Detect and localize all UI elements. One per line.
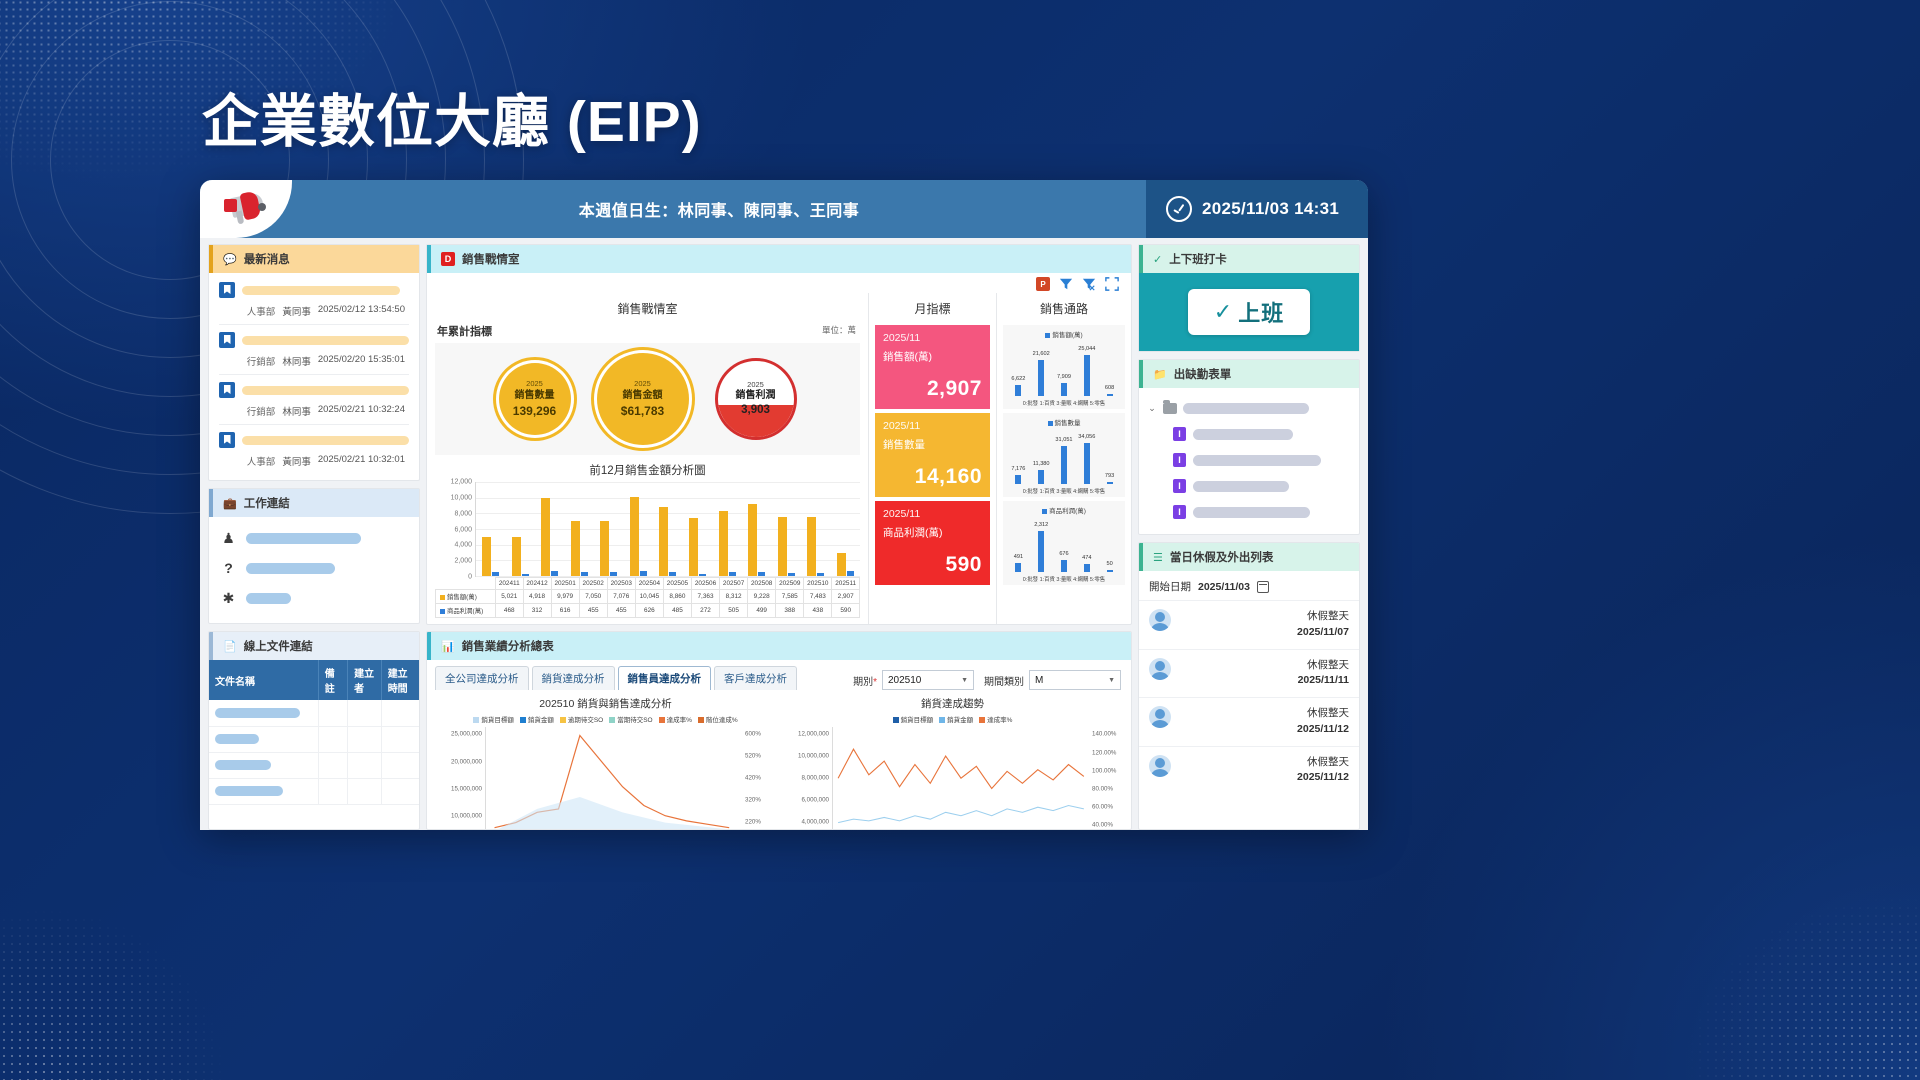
doc-note-cell <box>318 752 347 778</box>
unit-label: 單位：萬 <box>492 324 868 336</box>
filter-label: 期間類別 <box>984 673 1024 688</box>
doc-column-header[interactable]: 建立時間 <box>381 660 419 700</box>
ytd-section: 銷售戰情室 年累計指標 單位：萬 2025銷售數量139,2962025銷售金額… <box>427 293 869 624</box>
legend-item: 銷貨目標額 <box>893 714 934 724</box>
table-row[interactable] <box>209 752 419 778</box>
y-tick: 20,000,000 <box>451 758 482 765</box>
worklinks-header: 💼 工作連結 <box>209 489 419 517</box>
fullscreen-icon[interactable] <box>1105 277 1119 291</box>
leave-type: 休假整天 <box>1307 610 1349 622</box>
y2-tick: 60.00% <box>1092 804 1113 811</box>
news-item[interactable]: 行銷部林同事2025/02/20 15:35:01 <box>219 325 409 375</box>
worklink-item[interactable]: ✱ <box>221 583 407 613</box>
documents-table-body <box>209 700 419 804</box>
chevron-down-icon[interactable]: ⌄ <box>1147 403 1157 414</box>
list-item[interactable]: 休假整天2025/11/12 <box>1139 697 1359 746</box>
bar-category: 202503 <box>607 578 635 590</box>
kpi-label: 商品利潤(萬) <box>883 525 982 540</box>
series-value: 7,050 <box>579 590 607 604</box>
bar-chart-plot-area: 12,00010,0008,0006,0004,0002,0000 <box>435 482 860 577</box>
avatar <box>1149 658 1171 680</box>
y-tick: 15,000,000 <box>451 786 482 793</box>
y2-tick: 40.00% <box>1092 822 1113 829</box>
series-value: 4,918 <box>523 590 551 604</box>
series-value: 590 <box>832 604 860 618</box>
analysis-header: 📊 銷售業績分析總表 <box>427 632 1131 660</box>
filter-group: 期別*202510▼ <box>853 670 974 690</box>
doc-column-header[interactable]: 文件名稱 <box>209 660 318 700</box>
leave-header: ☰ 當日休假及外出列表 <box>1139 543 1359 571</box>
attendance-title: 出缺勤表單 <box>1174 366 1232 382</box>
check-icon: ✓ <box>1153 253 1162 266</box>
leave-date-label: 開始日期 <box>1149 579 1191 594</box>
attendance-form-item[interactable]: I <box>1147 447 1351 473</box>
donut-value: 139,296 <box>513 403 556 419</box>
folder-label-redacted <box>1183 403 1309 414</box>
channel-bar: 11,380 <box>1038 470 1044 484</box>
news-time: 2025/02/21 10:32:01 <box>318 454 405 468</box>
analysis-filters: 期別*202510▼期間類別M▼ <box>843 666 1131 690</box>
series-value: 7,585 <box>776 590 804 604</box>
worklink-label-redacted <box>246 533 361 544</box>
chart2-canvas <box>485 727 742 830</box>
bar-category: 202510 <box>804 578 832 590</box>
left-sidebar: 💬 最新消息 人事部黃同事2025/02/12 13:54:50行銷部林同事20… <box>208 244 420 830</box>
attendance-form-item[interactable]: I <box>1147 421 1351 447</box>
legend-item: 階位達成% <box>698 714 738 724</box>
user-icon: ♟ <box>221 530 236 547</box>
news-title-redacted <box>242 286 400 295</box>
news-panel-header: 💬 最新消息 <box>209 245 419 273</box>
doc-time-cell <box>381 700 419 726</box>
series-value: 9,228 <box>748 590 776 604</box>
leave-date-value[interactable]: 2025/11/03 <box>1198 581 1250 593</box>
bar-category: 202411 <box>496 578 524 590</box>
bar-category: 202504 <box>635 578 663 590</box>
legend-item: 銷貨金額 <box>939 714 973 724</box>
y-tick: 8,000,000 <box>801 775 829 782</box>
clock-icon <box>1166 196 1192 222</box>
filter-label: 期別* <box>853 673 877 688</box>
channel-legend: 銷售額(萬) <box>1006 329 1122 339</box>
worklink-label-redacted <box>246 563 335 574</box>
monthly-bar-chart: 前12月銷售金額分析圖 12,00010,0008,0006,0004,0002… <box>427 455 868 624</box>
channel-charts: 銷售額(萬)6,62221,6027,90925,0446080:批發 1:百貨… <box>997 325 1131 585</box>
doc-creator-cell <box>348 778 382 804</box>
page-title: 企業數位大廳 (EIP) <box>202 76 702 158</box>
bar-chart-title: 前12月銷售金額分析圖 <box>435 459 860 482</box>
donut-value: $61,783 <box>621 403 664 419</box>
bookmark-icon <box>219 332 235 348</box>
series-value: 312 <box>523 604 551 618</box>
punch-area: ✓ 上班 <box>1139 273 1359 351</box>
table-row[interactable] <box>209 726 419 752</box>
kpi-value: 2,907 <box>883 377 982 401</box>
punch-panel: ✓ 上下班打卡 ✓ 上班 <box>1138 244 1360 352</box>
news-time: 2025/02/21 10:32:24 <box>318 404 405 418</box>
sales-dashboard-title: 銷售戰情室 <box>462 251 520 267</box>
bookmark-icon <box>219 382 235 398</box>
series-value: 8,312 <box>720 590 748 604</box>
bar-chart-icon: 📊 <box>441 640 455 653</box>
news-author: 林同事 <box>282 354 311 368</box>
tab-item[interactable]: 客戶達成分析 <box>714 666 797 690</box>
kpi-donut[interactable]: 2025銷售金額$61,783 <box>597 353 689 445</box>
channel-bar: 6,622 <box>1015 385 1021 396</box>
attendance-form-item[interactable]: I <box>1147 473 1351 499</box>
ytd-donut-row: 2025銷售數量139,2962025銷售金額$61,7832025銷售利潤3,… <box>435 343 860 455</box>
doc-name-cell <box>209 778 318 804</box>
app-body: 💬 最新消息 人事部黃同事2025/02/12 13:54:50行銷部林同事20… <box>200 238 1368 830</box>
leave-date: 2025/11/11 <box>1298 674 1349 686</box>
legend-item: 銷貨金額 <box>520 714 554 724</box>
chart3-legend: 銷貨目標額銷貨金額達成率% <box>782 714 1123 727</box>
right-sidebar: ✓ 上下班打卡 ✓ 上班 📁 出缺勤表單 ⌄IIII <box>1138 244 1360 830</box>
channel-bar: 7,909 <box>1061 383 1067 396</box>
channel-axis-label: 0:批發 1:百貨 3:量販 4:網購 5:零售 <box>1006 487 1122 495</box>
duty-notice: 本週值日生：林同事、陳同事、王同事 <box>292 180 1146 238</box>
doc-column-header[interactable]: 備註 <box>318 660 347 700</box>
analysis-tabs: 全公司達成分析銷貨達成分析銷售員達成分析客戶達成分析 <box>427 660 805 690</box>
news-author: 黃同事 <box>282 454 311 468</box>
list-icon: ☰ <box>1153 551 1163 564</box>
form-label-redacted <box>1193 481 1289 492</box>
channel-bar: 491 <box>1015 563 1021 572</box>
bar-category: 202511 <box>832 578 860 590</box>
chart3-title: 銷貨達成趨勢 <box>782 694 1123 714</box>
news-dept: 行銷部 <box>247 404 276 418</box>
info-icon: I <box>1173 427 1186 441</box>
leave-date: 2025/11/12 <box>1297 771 1349 783</box>
doc-time-cell <box>381 778 419 804</box>
y-tick: 10,000,000 <box>451 813 482 820</box>
doc-time-cell <box>381 752 419 778</box>
dashboard-toolbar: P <box>427 273 1131 293</box>
donut-year: 2025 <box>634 379 651 389</box>
dashboard-badge: D <box>441 252 455 266</box>
current-datetime: 2025/11/03 14:31 <box>1202 199 1339 219</box>
achievement-analysis-chart: 202510 銷貨與銷售達成分析 銷貨目標額銷貨金額逾期待交SO當期待交SO達成… <box>435 694 776 830</box>
channel-chart: 商品利潤(萬)4912,312676474500:批發 1:百貨 3:量販 4:… <box>1003 501 1125 585</box>
channel-legend: 商品利潤(萬) <box>1006 505 1122 515</box>
punch-in-button[interactable]: ✓ 上班 <box>1188 289 1310 335</box>
folder-icon <box>1163 403 1177 414</box>
attendance-folder-node[interactable]: ⌄ <box>1147 395 1351 421</box>
chart3-secondary-y-axis: 140.00%120.00%100.00%80.00%60.00%40.00%2… <box>1089 727 1123 830</box>
y2-tick: 100.00% <box>1092 767 1116 774</box>
dashboard-grid: 銷售戰情室 年累計指標 單位：萬 2025銷售數量139,2962025銷售金額… <box>427 293 1131 624</box>
filter-value: 202510 <box>888 675 921 686</box>
chart2-y-axis: 25,000,00020,000,00015,000,00010,000,000… <box>435 727 485 830</box>
news-item[interactable]: 人事部黃同事2025/02/12 13:54:50 <box>219 275 409 325</box>
channel-bar: 2,312 <box>1038 531 1044 572</box>
attendance-form-item[interactable]: I <box>1147 499 1351 525</box>
info-icon: I <box>1173 453 1186 467</box>
kpi-card[interactable]: 2025/11銷售額(萬)2,907 <box>875 325 990 409</box>
doc-creator-cell <box>348 700 382 726</box>
bar-group <box>683 482 713 576</box>
leave-detail: 休假整天2025/11/11 <box>1298 658 1349 690</box>
table-row[interactable] <box>209 700 419 726</box>
filter-group: 期間類別M▼ <box>984 670 1121 690</box>
bar-chart-bars <box>476 482 860 576</box>
news-panel-title: 最新消息 <box>244 251 290 267</box>
legend-item: 達成率% <box>659 714 692 724</box>
doc-creator-cell <box>348 726 382 752</box>
series-value: 8,860 <box>663 590 691 604</box>
punch-header: ✓ 上下班打卡 <box>1139 245 1359 273</box>
tab-active[interactable]: 銷售員達成分析 <box>618 666 712 690</box>
form-label-redacted <box>1193 455 1321 466</box>
bar-group <box>742 482 772 576</box>
series-legend: 商品利潤(萬) <box>436 604 496 618</box>
channel-bar: 793 <box>1107 482 1113 484</box>
news-title-redacted <box>242 386 409 395</box>
attendance-header: 📁 出缺勤表單 <box>1139 360 1359 388</box>
doc-note-cell <box>318 778 347 804</box>
bar-category: 202505 <box>663 578 691 590</box>
y2-tick: 520% <box>745 753 761 760</box>
channel-bar: 474 <box>1084 564 1090 572</box>
series-value: 499 <box>748 604 776 618</box>
bar-chart-y-axis: 12,00010,0008,0006,0004,0002,0000 <box>435 482 475 577</box>
y2-tick: 220% <box>745 818 761 825</box>
tab-item[interactable]: 全公司達成分析 <box>435 666 529 690</box>
analysis-panel: 📊 銷售業績分析總表 全公司達成分析銷貨達成分析銷售員達成分析客戶達成分析 期別… <box>426 631 1132 830</box>
y2-tick: 420% <box>745 775 761 782</box>
channel-bar: 676 <box>1061 560 1067 572</box>
series-value: 485 <box>663 604 691 618</box>
worklink-item[interactable]: ♟ <box>221 523 407 553</box>
channel-bar: 608 <box>1107 394 1113 396</box>
kpi-donut[interactable]: 2025銷售數量139,296 <box>499 363 571 435</box>
chart3-canvas <box>832 727 1089 830</box>
series-value: 7,076 <box>607 590 635 604</box>
megaphone-icon <box>222 192 270 226</box>
doc-column-header[interactable]: 建立者 <box>348 660 382 700</box>
doc-creator-cell <box>348 752 382 778</box>
series-value: 10,045 <box>635 590 663 604</box>
sales-dashboard-panel: D 銷售戰情室 P 銷售戰情室 年累計指標 單位：萬 <box>426 244 1132 625</box>
news-time: 2025/02/20 15:35:01 <box>318 354 405 368</box>
monthly-kpi-cards: 2025/11銷售額(萬)2,9072025/11銷售數量14,1602025/… <box>869 325 996 585</box>
channel-chart: 銷售數量7,17611,38031,05134,0567930:批發 1:百貨 … <box>1003 413 1125 497</box>
attendance-tree: ⌄IIII <box>1139 388 1359 534</box>
kpi-value: 14,160 <box>883 465 982 489</box>
avatar <box>1149 609 1171 631</box>
attendance-panel: 📁 出缺勤表單 ⌄IIII <box>1138 359 1360 535</box>
news-item[interactable]: 行銷部林同事2025/02/21 10:32:24 <box>219 375 409 425</box>
chart3-y-axis: 12,000,00010,000,0008,000,0006,000,0004,… <box>782 727 832 830</box>
leave-type: 休假整天 <box>1307 659 1349 671</box>
news-dept: 人事部 <box>247 454 276 468</box>
documents-header: 📄 線上文件連結 <box>209 632 419 660</box>
kpi-date: 2025/11 <box>883 508 982 520</box>
chart2-plot: 25,000,00020,000,00015,000,00010,000,000… <box>435 727 776 830</box>
leave-date-row: 開始日期 2025/11/03 <box>1139 571 1359 600</box>
leave-date: 2025/11/12 <box>1297 723 1349 735</box>
info-icon: I <box>1173 505 1186 519</box>
channel-title: 銷售通路 <box>997 293 1131 321</box>
check-icon: ✓ <box>1214 301 1232 323</box>
documents-table-header-row: 文件名稱備註建立者建立時間 <box>209 660 419 700</box>
briefcase-icon: 💼 <box>223 497 237 510</box>
punch-title: 上下班打卡 <box>1169 251 1227 267</box>
series-value: 626 <box>635 604 663 618</box>
leave-type: 休假整天 <box>1307 707 1349 719</box>
filter-icon[interactable] <box>1059 277 1073 291</box>
worklink-item[interactable]: ? <box>221 553 407 583</box>
bar-category: 202502 <box>579 578 607 590</box>
series-value: 2,907 <box>832 590 860 604</box>
bar-category: 202509 <box>776 578 804 590</box>
bar-category: 202506 <box>691 578 719 590</box>
series-value: 272 <box>691 604 719 618</box>
news-dept: 行銷部 <box>247 354 276 368</box>
ytd-label: 年累計指標 <box>427 321 492 339</box>
filter-select[interactable]: 202510▼ <box>882 670 974 690</box>
bar-chart-canvas <box>475 482 860 577</box>
clear-filter-icon[interactable] <box>1082 277 1096 291</box>
y-tick: 2,000 <box>454 558 472 565</box>
bar-group <box>535 482 565 576</box>
filter-select[interactable]: M▼ <box>1029 670 1121 690</box>
trend-chart: 銷貨達成趨勢 銷貨目標額銷貨金額達成率% 12,000,00010,000,00… <box>782 694 1123 830</box>
table-row[interactable] <box>209 778 419 804</box>
eip-application-window: 本週值日生：林同事、陳同事、王同事 2025/11/03 14:31 💬 最新消… <box>200 180 1368 830</box>
doc-note-cell <box>318 700 347 726</box>
series-value: 5,021 <box>496 590 524 604</box>
y-tick: 12,000,000 <box>798 731 829 738</box>
news-list: 人事部黃同事2025/02/12 13:54:50行銷部林同事2025/02/2… <box>209 273 419 480</box>
channel-section: 銷售通路 銷售額(萬)6,62221,6027,90925,0446080:批發… <box>997 293 1131 624</box>
y-tick: 4,000,000 <box>801 818 829 825</box>
powerpoint-icon[interactable]: P <box>1036 277 1050 291</box>
tab-item[interactable]: 銷貨達成分析 <box>532 666 615 690</box>
donut-year: 2025 <box>747 380 764 390</box>
y-tick: 25,000,000 <box>451 731 482 738</box>
series-value: 468 <box>496 604 524 618</box>
series-value: 505 <box>720 604 748 618</box>
doc-note-cell <box>318 726 347 752</box>
chart2-title: 202510 銷貨與銷售達成分析 <box>435 694 776 714</box>
list-item[interactable]: 休假整天2025/11/12 <box>1139 746 1359 795</box>
question-icon: ? <box>221 560 236 576</box>
series-value: 616 <box>551 604 579 618</box>
y-tick: 6,000 <box>454 526 472 533</box>
bar-group <box>476 482 506 576</box>
bar-group <box>771 482 801 576</box>
y2-tick: 120.00% <box>1092 749 1116 756</box>
dashboard-section-title: 銷售戰情室 <box>427 293 868 321</box>
y2-tick: 80.00% <box>1092 786 1113 793</box>
channel-bar: 31,051 <box>1061 446 1067 484</box>
file-icon: 📄 <box>223 640 237 653</box>
kpi-value: 590 <box>883 553 982 577</box>
series-value: 7,363 <box>691 590 719 604</box>
y-tick: 4,000 <box>454 542 472 549</box>
leave-detail: 休假整天2025/11/07 <box>1297 609 1349 641</box>
leave-panel: ☰ 當日休假及外出列表 開始日期 2025/11/03 休假整天2025/11/… <box>1138 542 1360 830</box>
bar-group <box>712 482 742 576</box>
donut-year: 2025 <box>526 379 543 389</box>
bar-group <box>830 482 860 576</box>
bar-category: 202508 <box>748 578 776 590</box>
news-dept: 人事部 <box>247 304 276 318</box>
asterisk-icon: ✱ <box>221 590 236 607</box>
worklinks-panel: 💼 工作連結 ♟?✱ <box>208 488 420 624</box>
channel-bar: 7,176 <box>1015 475 1021 484</box>
folder-icon: 📁 <box>1153 368 1167 381</box>
documents-panel: 📄 線上文件連結 文件名稱備註建立者建立時間 <box>208 631 420 830</box>
bookmark-icon <box>219 432 235 448</box>
bar-chart-data-table: 2024112024122025012025022025032025042025… <box>435 577 860 618</box>
list-item[interactable]: 休假整天2025/11/11 <box>1139 649 1359 698</box>
list-item[interactable]: 休假整天2025/11/07 <box>1139 600 1359 649</box>
filter-value: M <box>1035 675 1043 686</box>
news-panel: 💬 最新消息 人事部黃同事2025/02/12 13:54:50行銷部林同事20… <box>208 244 420 481</box>
bar-group <box>653 482 683 576</box>
y2-tick: 600% <box>745 731 761 738</box>
news-item[interactable]: 人事部黃同事2025/02/21 10:32:01 <box>219 425 409 474</box>
doc-time-cell <box>381 726 419 752</box>
series-value: 455 <box>579 604 607 618</box>
channel-bar: 25,044 <box>1084 355 1090 396</box>
bar-category: 202412 <box>523 578 551 590</box>
kpi-card[interactable]: 2025/11商品利潤(萬)590 <box>875 501 990 585</box>
doc-name-cell <box>209 700 318 726</box>
channel-bar: 34,056 <box>1084 443 1090 484</box>
y-tick: 0 <box>468 574 472 581</box>
news-author: 黃同事 <box>282 304 311 318</box>
clock-widget: 2025/11/03 14:31 <box>1146 180 1368 238</box>
y-tick: 10,000 <box>451 494 472 501</box>
channel-bar: 21,602 <box>1038 360 1044 396</box>
chart2-secondary-y-axis: 600%520%420%320%220%120% <box>742 727 776 830</box>
y-tick: 6,000,000 <box>801 796 829 803</box>
news-time: 2025/02/12 13:54:50 <box>318 304 405 318</box>
worklink-label-redacted <box>246 593 291 604</box>
kpi-donut[interactable]: 2025銷售利潤3,903 <box>715 358 797 440</box>
bookmark-icon <box>219 282 235 298</box>
bar-category: 202501 <box>551 578 579 590</box>
kpi-date: 2025/11 <box>883 332 982 344</box>
monthly-kpi-section: 月指標 2025/11銷售額(萬)2,9072025/11銷售數量14,1602… <box>869 293 997 624</box>
doc-name-cell <box>209 726 318 752</box>
donut-label: 銷售金額 <box>623 389 663 403</box>
y2-tick: 320% <box>745 796 761 803</box>
y-tick: 8,000 <box>454 510 472 517</box>
kpi-date: 2025/11 <box>883 420 982 432</box>
leave-title: 當日休假及外出列表 <box>1170 549 1274 565</box>
legend-item: 達成率% <box>979 714 1012 724</box>
app-logo[interactable] <box>200 180 292 238</box>
series-value: 388 <box>776 604 804 618</box>
legend-item: 逾期待交SO <box>560 714 603 724</box>
kpi-label: 銷售數量 <box>883 437 982 452</box>
kpi-card[interactable]: 2025/11銷售數量14,160 <box>875 413 990 497</box>
info-icon: I <box>1173 479 1186 493</box>
donut-label: 銷售數量 <box>515 389 555 403</box>
bar-group <box>801 482 831 576</box>
chevron-down-icon: ▼ <box>1108 677 1115 684</box>
chart2-legend: 銷貨目標額銷貨金額逾期待交SO當期待交SO達成率%階位達成% <box>435 714 776 727</box>
y2-tick: 140.00% <box>1092 731 1116 738</box>
app-header-bar: 本週值日生：林同事、陳同事、王同事 2025/11/03 14:31 <box>200 180 1368 238</box>
bar-category: 202507 <box>720 578 748 590</box>
calendar-icon[interactable] <box>1257 581 1269 593</box>
channel-chart: 銷售額(萬)6,62221,6027,90925,0446080:批發 1:百貨… <box>1003 325 1125 409</box>
